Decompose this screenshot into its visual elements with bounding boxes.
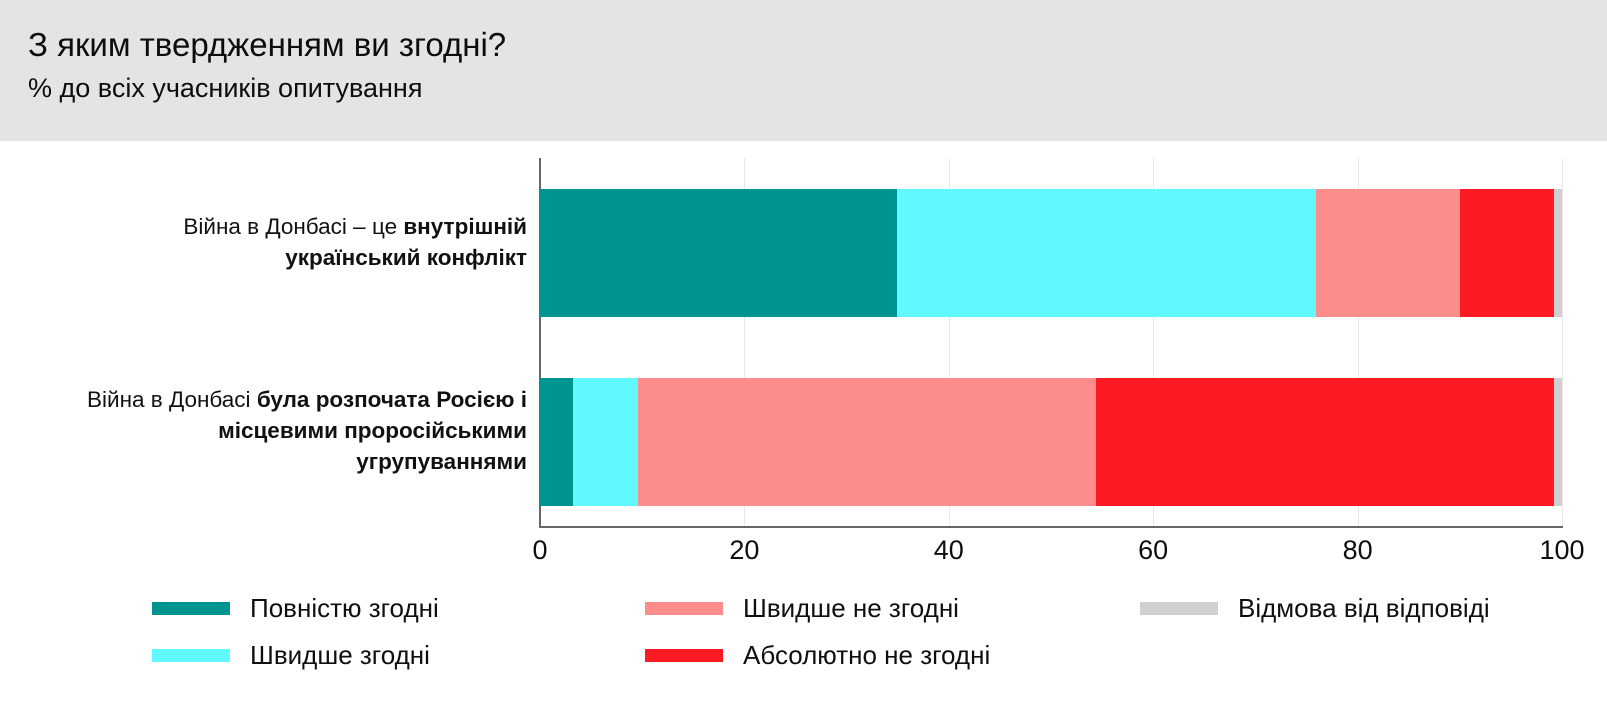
bar-segment [1096,378,1554,506]
category-label-1-plain: Війна в Донбасі [87,387,257,412]
legend-swatch-icon [645,602,723,615]
x-tick-label-20: 20 [729,533,759,567]
legend-label: Відмова від відповіді [1238,592,1490,624]
legend-label: Абсолютно не згодні [743,639,990,671]
legend-swatch-icon [1140,602,1218,615]
legend-swatch-icon [645,649,723,662]
legend-item-4[interactable]: Відмова від відповіді [1140,592,1490,624]
x-tick-label-0: 0 [532,533,547,567]
chart-header: З яким твердженням ви згодні? % до всіх … [0,0,1607,141]
legend-label: Швидше згодні [250,639,430,671]
chart-plot-area: Війна в Донбасі – це внутрішній українсь… [0,141,1607,710]
legend-item-3[interactable]: Абсолютно не згодні [645,639,990,671]
gridline-100 [1562,158,1563,526]
x-tick-label-100: 100 [1539,533,1584,567]
category-label-1: Війна в Донбасі була розпочата Росією і … [57,384,527,477]
bar-segment [897,189,1316,317]
chart-subtitle: % до всіх учасників опитування [28,68,1607,108]
bar-segment [1316,189,1460,317]
bar-segment [540,189,897,317]
legend-item-0[interactable]: Повністю згодні [152,592,439,624]
bar-segment [1554,378,1562,506]
x-tick-label-80: 80 [1343,533,1373,567]
page-title: З яким твердженням ви згодні? [28,22,1607,68]
legend-swatch-icon [152,649,230,662]
legend-label: Повністю згодні [250,592,439,624]
bar-segment [1554,189,1562,317]
bar-segment [573,378,638,506]
x-tick-label-40: 40 [934,533,964,567]
bar-segment [540,378,573,506]
x-axis-line [539,526,1563,528]
bar-segment [1460,189,1554,317]
bar-segment [638,378,1096,506]
category-label-1-bold: була розпочата Росією і місцевими пророс… [218,387,527,474]
x-tick-label-60: 60 [1138,533,1168,567]
category-label-0: Війна в Донбасі – це внутрішній українсь… [57,211,527,273]
chart-legend: Повністю згодніШвидше згодніШвидше не зг… [0,584,1607,694]
legend-item-2[interactable]: Швидше не згодні [645,592,959,624]
legend-item-1[interactable]: Швидше згодні [152,639,430,671]
legend-swatch-icon [152,602,230,615]
legend-label: Швидше не згодні [743,592,959,624]
category-label-0-plain: Війна в Донбасі – це [183,214,403,239]
